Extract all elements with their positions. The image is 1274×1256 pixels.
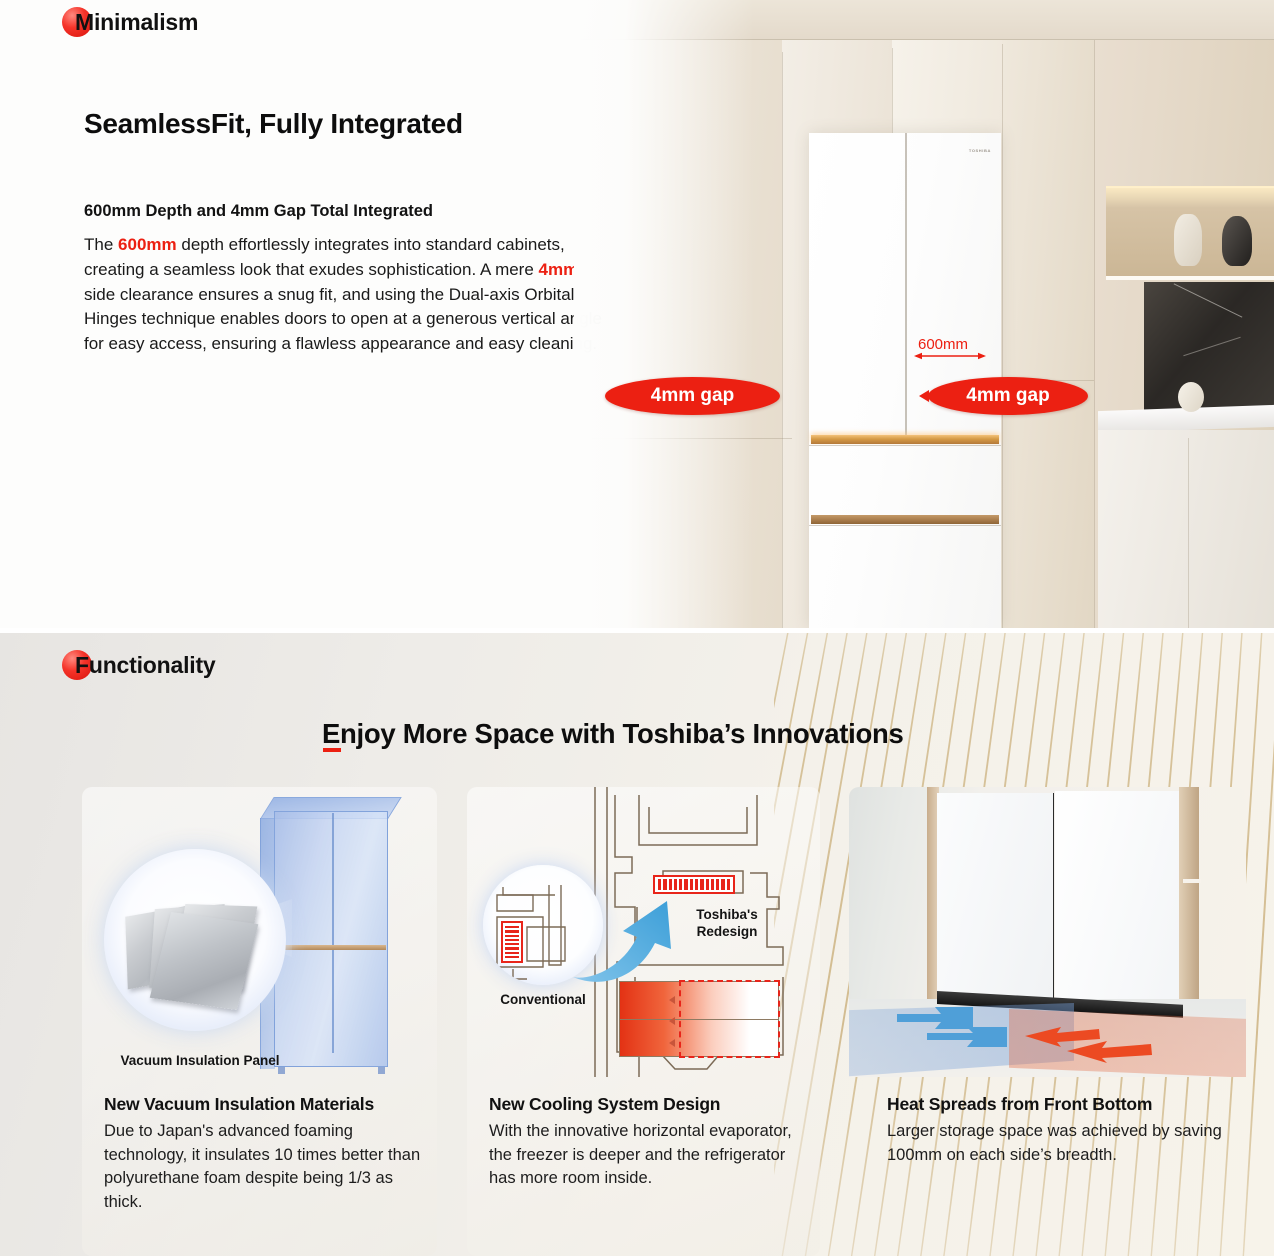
fridge-door-seam — [332, 813, 334, 1053]
highlight-4mm: 4mm — [539, 260, 579, 279]
highlight-600mm: 600mm — [118, 235, 177, 254]
expand-arrow-3 — [669, 1039, 675, 1047]
lower-cabinets — [1098, 430, 1274, 628]
feature-card-heat-spread: Heat Spreads from Front Bottom Larger st… — [849, 787, 1246, 1256]
vase-white — [1174, 214, 1202, 266]
conventional-evaporator-coil — [501, 921, 523, 963]
conventional-label: Conventional — [473, 992, 613, 1007]
kitchen-photo: TOSHIBA — [574, 0, 1274, 628]
section-title: Enjoy More Space with Toshiba’s Innovati… — [322, 718, 904, 750]
cabinet-column-right — [1179, 787, 1199, 1023]
heat-arrow-2 — [1067, 1039, 1153, 1063]
cabinet-panel-4 — [1002, 40, 1094, 628]
card-title: Heat Spreads from Front Bottom — [887, 1094, 1232, 1115]
dimension-arrow-600mm — [914, 352, 986, 360]
tag-functionality-label: Functionality — [75, 652, 216, 679]
vase-dark — [1222, 216, 1252, 266]
expanded-space-outline — [679, 980, 780, 1058]
card-body: Due to Japan's advanced foaming technolo… — [104, 1120, 423, 1214]
callout-right-label: 4mm gap — [966, 385, 1049, 407]
niche-light — [1106, 186, 1274, 208]
dimension-label-600mm: 600mm — [918, 336, 968, 353]
body-part-1: The — [84, 235, 118, 254]
storage-space-comparison — [619, 981, 779, 1057]
body-part-3: side clearance ensures a snug fit, and u… — [84, 285, 602, 354]
figure-vacuum-insulation: Vacuum Insulation Panel — [82, 787, 437, 1077]
card-text-block: New Cooling System Design With the innov… — [489, 1094, 806, 1191]
cabinet-seam-4 — [1094, 40, 1095, 628]
vacuum-insulation-panel-label: Vacuum Insulation Panel — [100, 1053, 300, 1068]
photo-left-fade — [574, 0, 754, 628]
cabinet-seam-1 — [782, 52, 783, 628]
toshiba-redesign-label: Toshiba'sRedesign — [667, 907, 787, 941]
fridge-handle-upper — [811, 435, 999, 444]
tag-minimalism: Minimalism — [62, 7, 198, 37]
lower-cabinet-seam — [1188, 438, 1189, 628]
fridge-seam-1 — [809, 445, 1001, 446]
new-evaporator-coil — [653, 875, 735, 894]
tag-functionality: Functionality — [62, 650, 216, 680]
section-functionality: Functionality Enjoy More Space with Tosh… — [0, 633, 1274, 1256]
callout-4mm-gap-left: 4mm gap — [605, 377, 780, 415]
cool-air-arrow-2 — [925, 1025, 1009, 1047]
section-minimalism: TOSHIBA 600mm 4mm gap 4mm gap Minimalism… — [0, 0, 1274, 628]
cabinet-seam-3 — [1002, 44, 1003, 628]
callout-4mm-gap-right: 4mm gap — [928, 377, 1088, 415]
tag-minimalism-label: Minimalism — [75, 9, 198, 36]
fridge-door-right — [1055, 791, 1179, 1021]
magnifier-circle — [104, 849, 286, 1031]
figure-heat-spread — [849, 787, 1246, 1077]
niche-divider — [1106, 276, 1274, 280]
card-body: With the innovative horizontal evaporato… — [489, 1120, 806, 1191]
card-text-block: Heat Spreads from Front Bottom Larger st… — [887, 1094, 1232, 1167]
fridge-door-seam — [905, 133, 907, 435]
toshiba-logo: TOSHIBA — [969, 148, 991, 153]
shelf-edge — [1183, 879, 1201, 883]
subheading: 600mm Depth and 4mm Gap Total Integrated — [84, 202, 433, 221]
fridge-seam-2 — [809, 525, 1001, 526]
fridge-door-left — [937, 793, 1054, 1015]
card-title: New Vacuum Insulation Materials — [104, 1094, 423, 1115]
counter-vase — [1178, 382, 1204, 412]
feature-card-cooling-system: Toshiba'sRedesign — [467, 787, 820, 1256]
figure-cooling-diagram: Toshiba'sRedesign — [467, 787, 820, 1077]
title-underline — [323, 748, 341, 752]
fridge-handle — [276, 945, 386, 950]
expand-arrow-2 — [669, 1017, 675, 1025]
page-title: SeamlessFit, Fully Integrated — [84, 108, 463, 140]
card-body: Larger storage space was achieved by sav… — [887, 1120, 1232, 1167]
feature-card-vacuum-insulation: Vacuum Insulation Panel New Vacuum Insul… — [82, 787, 437, 1256]
callout-tail-icon — [919, 390, 929, 402]
card-title: New Cooling System Design — [489, 1094, 806, 1115]
fridge-foot-right — [378, 1067, 385, 1074]
body-paragraph: The 600mm depth effortlessly integrates … — [84, 233, 604, 357]
fridge-handle-lower — [811, 515, 999, 524]
expand-arrow-1 — [669, 996, 675, 1004]
conventional-magnifier — [483, 865, 603, 985]
card-text-block: New Vacuum Insulation Materials Due to J… — [104, 1094, 423, 1214]
fridge-foot-left — [278, 1067, 285, 1074]
